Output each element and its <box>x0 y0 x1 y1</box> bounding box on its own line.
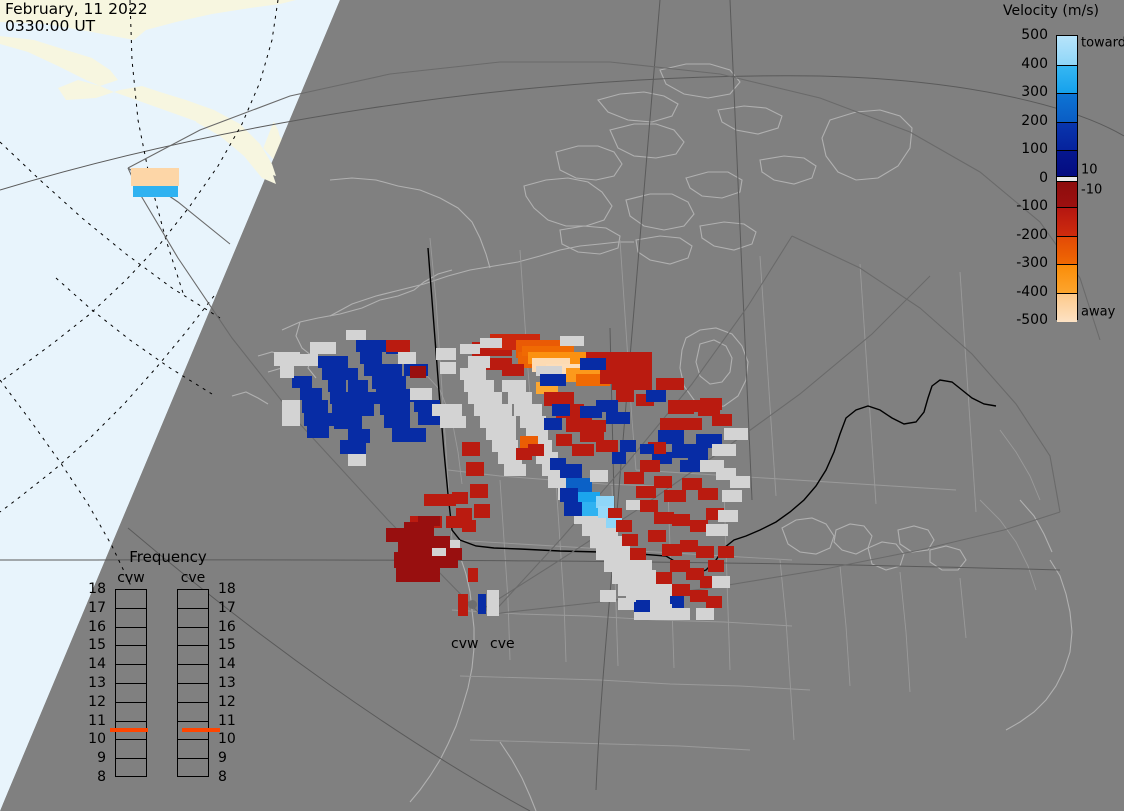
velocity-cell <box>466 462 484 476</box>
velocity-cell <box>480 416 516 428</box>
velocity-cell <box>640 570 656 582</box>
frequency-marker-cvw <box>110 728 148 732</box>
velocity-cell <box>706 524 728 536</box>
velocity-cell <box>640 500 658 512</box>
velocity-cell <box>636 486 656 498</box>
velocity-cell <box>307 426 329 438</box>
velocity-cell <box>624 472 644 484</box>
velocity-cell <box>396 568 440 582</box>
velocity-tick-300: 300 <box>1021 84 1048 100</box>
velocity-cell <box>332 404 374 416</box>
velocity-cell <box>424 494 440 506</box>
velocity-cell <box>480 338 502 348</box>
timestamp-date: February, 11 2022 <box>5 0 148 18</box>
velocity-cell <box>718 510 738 522</box>
frequency-cell <box>116 759 146 778</box>
velocity-cell <box>330 392 380 404</box>
velocity-cell <box>718 546 734 558</box>
velocity-tick--200: -200 <box>1016 227 1048 243</box>
velocity-cell <box>348 380 368 392</box>
velocity-cell <box>131 168 179 186</box>
frequency-tick-cvw-17: 17 <box>86 600 106 616</box>
velocity-colorbar-title: Velocity (m/s) <box>978 3 1124 19</box>
velocity-tick--300: -300 <box>1016 255 1048 271</box>
velocity-cell <box>596 440 618 452</box>
velocity-cell <box>550 458 566 470</box>
velocity-cell <box>654 604 672 616</box>
velocity-cell <box>634 602 646 612</box>
velocity-cell <box>528 444 544 456</box>
velocity-cell <box>384 415 410 428</box>
frequency-cell <box>116 740 146 759</box>
velocity-cell <box>664 490 686 502</box>
velocity-cell <box>612 452 626 464</box>
velocity-cell <box>670 596 684 608</box>
velocity-cell <box>654 512 674 524</box>
velocity-cell <box>730 476 750 488</box>
frequency-cell <box>178 703 208 722</box>
velocity-cell <box>460 368 486 380</box>
velocity-tick-100: 100 <box>1021 141 1048 157</box>
velocity-band--300-to--400 <box>1057 264 1077 294</box>
velocity-tick--500: -500 <box>1016 312 1048 328</box>
frequency-legend-panel: Frequency cvw18171615141312111098cve1817… <box>88 548 248 788</box>
velocity-cell <box>302 400 328 413</box>
frequency-bar-cvw <box>115 589 147 777</box>
velocity-band--10-to--100 <box>1057 181 1077 208</box>
velocity-cell <box>712 576 730 588</box>
velocity-cell <box>616 390 634 402</box>
velocity-cell <box>392 428 426 442</box>
velocity-cell <box>460 344 480 354</box>
velocity-cell <box>564 502 582 516</box>
velocity-cell <box>698 488 718 500</box>
velocity-cell <box>520 416 546 428</box>
velocity-cell <box>580 358 606 370</box>
velocity-cell <box>580 406 602 418</box>
velocity-cell <box>458 594 468 616</box>
velocity-plus-ten-label: 10 <box>1081 163 1098 178</box>
velocity-cell <box>722 490 742 502</box>
velocity-tick--100: -100 <box>1016 198 1048 214</box>
velocity-cell <box>133 186 178 197</box>
velocity-colorbar-panel: Velocity (m/s) 5004003002001000-100-200-… <box>975 0 1124 330</box>
frequency-cell <box>116 665 146 684</box>
velocity-cell <box>640 460 660 472</box>
velocity-cell <box>706 596 722 608</box>
velocity-cell <box>680 418 702 430</box>
frequency-tick-cve-12: 12 <box>218 694 236 710</box>
frequency-tick-cve-9: 9 <box>218 750 227 766</box>
velocity-tick-400: 400 <box>1021 56 1048 72</box>
velocity-cell <box>708 560 724 572</box>
frequency-tick-cve-11: 11 <box>218 713 236 729</box>
frequency-cell <box>116 609 146 628</box>
frequency-cell <box>178 740 208 759</box>
velocity-cell <box>544 418 562 430</box>
velocity-cell <box>304 413 334 426</box>
frequency-tick-cvw-16: 16 <box>86 619 106 635</box>
velocity-cell <box>310 342 336 354</box>
frequency-tick-cvw-11: 11 <box>86 713 106 729</box>
velocity-cell <box>300 388 322 400</box>
velocity-band-500-to-400 <box>1057 36 1077 65</box>
frequency-marker-cve <box>182 728 220 732</box>
velocity-cell <box>552 404 570 416</box>
velocity-band--400-to--500 <box>1057 293 1077 323</box>
frequency-tick-cve-8: 8 <box>218 769 227 785</box>
frequency-cell <box>178 665 208 684</box>
frequency-cell <box>178 609 208 628</box>
velocity-cell <box>662 544 682 556</box>
velocity-cell <box>656 572 672 584</box>
frequency-cell <box>116 703 146 722</box>
frequency-radar-name-cvw: cvw <box>108 570 154 586</box>
velocity-cell <box>274 352 300 366</box>
velocity-cell <box>462 520 476 532</box>
frequency-radar-name-cve: cve <box>170 570 216 586</box>
velocity-cell <box>640 444 654 454</box>
velocity-cell <box>626 500 640 510</box>
timestamp-time: 0330:00 UT <box>5 17 95 35</box>
frequency-cell <box>116 684 146 703</box>
velocity-cell <box>432 404 462 416</box>
velocity-cell <box>600 590 616 602</box>
velocity-cell <box>418 516 440 526</box>
velocity-cell <box>364 364 402 376</box>
velocity-cell <box>646 390 666 402</box>
velocity-cell <box>328 380 346 392</box>
velocity-cell <box>502 364 524 376</box>
velocity-cell <box>620 440 636 452</box>
velocity-cell <box>452 492 468 504</box>
velocity-cell <box>672 584 690 596</box>
velocity-cell <box>468 356 490 368</box>
velocity-cell <box>436 348 456 360</box>
velocity-tick-200: 200 <box>1021 113 1048 129</box>
frequency-tick-cve-18: 18 <box>218 581 236 597</box>
velocity-band-300-to-200 <box>1057 93 1077 123</box>
velocity-cell <box>584 420 606 432</box>
frequency-tick-cvw-18: 18 <box>86 581 106 597</box>
velocity-cell <box>688 448 708 460</box>
radar-map-plot: February, 11 20220330:00 UT Velocity (m/… <box>0 0 1124 811</box>
velocity-cell <box>508 392 532 404</box>
velocity-colorbar <box>1056 35 1078 320</box>
frequency-tick-cve-13: 13 <box>218 675 236 691</box>
frequency-cell <box>116 590 146 609</box>
velocity-cell <box>712 444 736 456</box>
velocity-cell <box>560 488 578 502</box>
velocity-cell <box>648 530 666 542</box>
velocity-cell <box>386 340 410 352</box>
velocity-tick-0: 0 <box>1039 170 1048 186</box>
velocity-cell <box>696 608 714 620</box>
frequency-tick-cve-14: 14 <box>218 656 236 672</box>
velocity-cell <box>486 428 516 440</box>
velocity-cell <box>468 568 478 582</box>
velocity-cell <box>356 340 386 352</box>
velocity-cell <box>608 508 622 518</box>
velocity-away-label: away <box>1081 305 1115 320</box>
velocity-tick-500: 500 <box>1021 27 1048 43</box>
radar-site-label-cve: cve <box>490 636 515 652</box>
velocity-cell <box>280 366 294 378</box>
velocity-cell <box>478 594 486 614</box>
velocity-cell <box>622 534 638 546</box>
velocity-cell <box>616 520 632 532</box>
velocity-cell <box>282 400 300 426</box>
frequency-cell <box>178 646 208 665</box>
velocity-cell <box>712 414 732 426</box>
velocity-cell <box>618 598 634 610</box>
velocity-cell <box>318 356 348 368</box>
velocity-cell <box>572 444 594 456</box>
velocity-cell <box>334 416 362 429</box>
velocity-toward-label: toward <box>1081 36 1124 51</box>
velocity-cell <box>462 442 480 456</box>
velocity-cell <box>656 378 684 390</box>
velocity-cell <box>432 548 446 556</box>
velocity-cell <box>540 374 566 386</box>
velocity-cell <box>618 584 674 596</box>
velocity-cell <box>322 368 358 380</box>
frequency-cell <box>178 628 208 647</box>
radar-site-marker <box>468 600 477 609</box>
frequency-tick-cvw-13: 13 <box>86 675 106 691</box>
frequency-bar-cve <box>177 589 209 777</box>
velocity-minus-ten-label: -10 <box>1081 183 1102 198</box>
frequency-tick-cve-10: 10 <box>218 731 236 747</box>
timestamp-label: February, 11 20220330:00 UT <box>5 1 148 35</box>
velocity-band-100-to-10 <box>1057 150 1077 177</box>
velocity-cell <box>440 416 466 428</box>
velocity-cell <box>606 412 630 424</box>
frequency-cell <box>116 646 146 665</box>
velocity-cell <box>590 470 608 482</box>
velocity-cell <box>360 352 382 364</box>
frequency-tick-cve-17: 17 <box>218 600 236 616</box>
frequency-tick-cvw-10: 10 <box>86 731 106 747</box>
velocity-cell <box>348 454 366 466</box>
velocity-cell <box>346 330 366 340</box>
velocity-cell <box>410 366 426 378</box>
velocity-cell <box>610 560 626 572</box>
velocity-cell <box>292 376 312 388</box>
velocity-cell <box>340 440 366 454</box>
velocity-cell <box>450 540 460 548</box>
velocity-band-200-to-100 <box>1057 122 1077 152</box>
frequency-tick-cvw-8: 8 <box>86 769 106 785</box>
velocity-cell <box>724 428 748 440</box>
velocity-cell <box>446 516 464 528</box>
velocity-cell <box>464 380 494 392</box>
velocity-band--100-to--200 <box>1057 207 1077 237</box>
velocity-cell <box>492 440 518 452</box>
velocity-cell <box>556 434 572 446</box>
frequency-cell <box>178 759 208 778</box>
frequency-tick-cve-16: 16 <box>218 619 236 635</box>
velocity-cell <box>672 514 690 526</box>
velocity-cell <box>612 376 652 390</box>
velocity-cell <box>398 352 416 364</box>
velocity-cell <box>440 362 456 374</box>
frequency-tick-cvw-9: 9 <box>86 750 106 766</box>
velocity-cell <box>474 404 512 416</box>
velocity-cell <box>410 388 432 400</box>
frequency-cell <box>178 684 208 703</box>
velocity-cell <box>502 380 526 392</box>
velocity-cell <box>680 460 702 472</box>
velocity-cell <box>560 336 584 346</box>
velocity-cell <box>696 546 714 558</box>
frequency-tick-cvw-14: 14 <box>86 656 106 672</box>
velocity-cell <box>474 504 490 518</box>
velocity-band-400-to-300 <box>1057 65 1077 95</box>
frequency-tick-cvw-15: 15 <box>86 637 106 653</box>
radar-site-label-cvw: cvw <box>451 636 478 652</box>
frequency-tick-cvw-12: 12 <box>86 694 106 710</box>
velocity-cell <box>372 376 406 389</box>
frequency-cell <box>178 590 208 609</box>
velocity-cell <box>487 590 499 616</box>
velocity-cell <box>470 484 488 498</box>
velocity-cell <box>630 548 646 560</box>
velocity-band--200-to--300 <box>1057 236 1077 266</box>
velocity-cell <box>386 528 404 542</box>
velocity-cell <box>514 404 542 416</box>
velocity-cell <box>654 476 672 488</box>
frequency-tick-cve-15: 15 <box>218 637 236 653</box>
frequency-legend-title: Frequency <box>88 548 248 566</box>
velocity-tick--400: -400 <box>1016 284 1048 300</box>
velocity-cell <box>380 402 410 415</box>
velocity-cell <box>468 392 502 404</box>
frequency-cell <box>116 628 146 647</box>
velocity-cell <box>504 464 526 476</box>
